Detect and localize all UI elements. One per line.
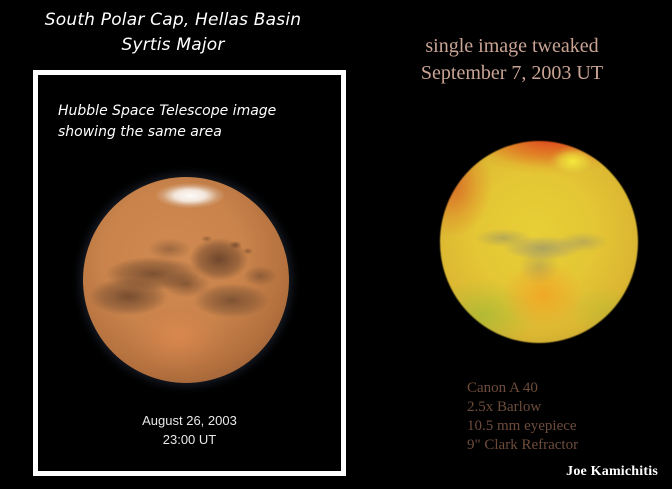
- equipment-list: Canon A 40 2.5x Barlow 10.5 mm eyepiece …: [467, 379, 578, 455]
- amateur-mars-disc-image: [440, 141, 638, 343]
- author-signature: Joe Kamichitis: [566, 464, 658, 480]
- hubble-date-text: August 26, 2003 23:00 UT: [38, 411, 341, 449]
- left-panel-title: South Polar Cap, Hellas Basin Syrtis Maj…: [0, 8, 346, 58]
- poster-canvas: South Polar Cap, Hellas Basin Syrtis Maj…: [0, 0, 672, 489]
- hubble-caption: Hubble Space Telescope image showing the…: [58, 101, 338, 143]
- hubble-mars-disc-image: [83, 177, 289, 383]
- right-panel-title: single image tweaked September 7, 2003 U…: [352, 33, 672, 87]
- hubble-image-frame: Hubble Space Telescope image showing the…: [33, 70, 346, 476]
